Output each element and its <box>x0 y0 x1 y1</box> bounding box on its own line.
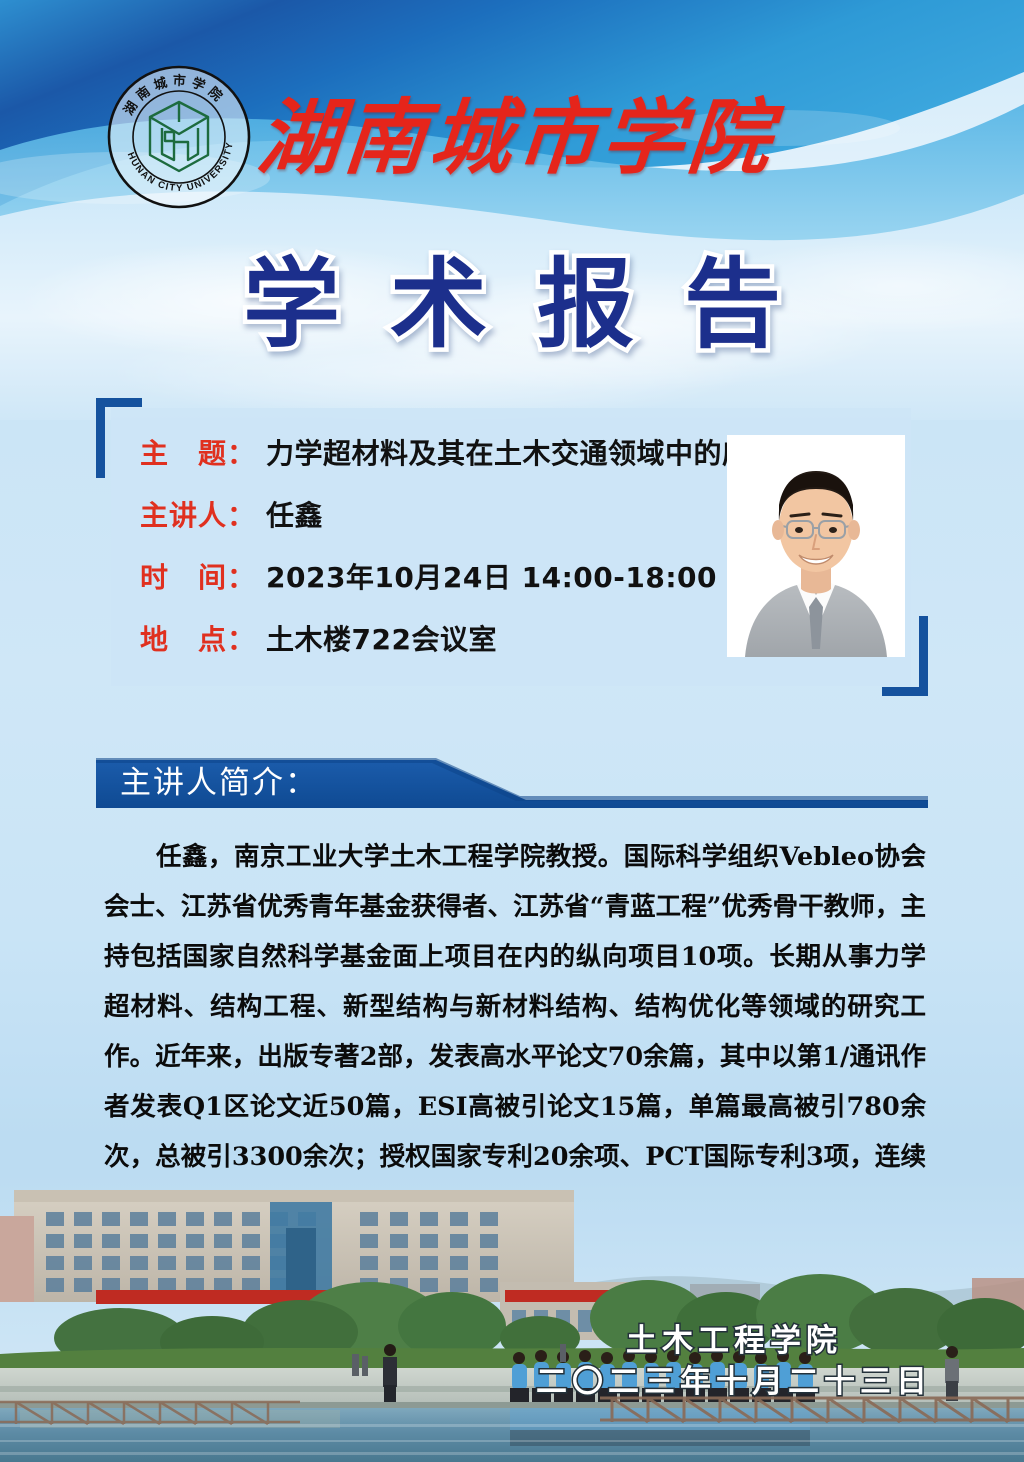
bio-section-heading: 主讲人简介： <box>120 764 318 802</box>
info-row-speaker: 主讲人： 任鑫 <box>140 494 740 534</box>
campus-photo <box>0 1172 1024 1462</box>
page-title: 学术报告 <box>0 252 1024 357</box>
info-row-location: 地 点： 土木楼722会议室 <box>140 618 740 658</box>
corner-bracket-top-left <box>96 398 142 478</box>
info-value-speaker: 任鑫 <box>266 494 323 534</box>
lecture-info-block: 主 题： 力学超材料及其在土木交通领域中的应用 主讲人： 任鑫 时 间： 202… <box>96 398 928 696</box>
poster-footer: 土木工程学院 二〇二三年十月二十三日 <box>536 1321 932 1402</box>
academic-lecture-poster: 湖南城市学院 HUNAN CITY UNIVERSITY 湖南城市学院 学术报告… <box>0 0 1024 1462</box>
speaker-portrait <box>727 435 905 657</box>
bio-section-banner: 主讲人简介： <box>96 758 928 808</box>
footer-organization: 土木工程学院 <box>536 1321 932 1361</box>
info-label-location: 地 点： <box>140 618 266 658</box>
info-value-time: 2023年10月24日 14:00-18:00 <box>266 556 717 596</box>
info-value-location: 土木楼722会议室 <box>266 618 497 658</box>
university-logo: 湖南城市学院 HUNAN CITY UNIVERSITY <box>104 62 254 212</box>
info-row-topic: 主 题： 力学超材料及其在土木交通领域中的应用 <box>140 432 740 472</box>
footer-date: 二〇二三年十月二十三日 <box>536 1362 932 1402</box>
info-value-topic: 力学超材料及其在土木交通领域中的应用 <box>266 432 779 472</box>
info-row-time: 时 间： 2023年10月24日 14:00-18:00 <box>140 556 740 596</box>
info-label-time: 时 间： <box>140 556 266 596</box>
info-label-topic: 主 题： <box>140 432 266 472</box>
university-name-heading: 湖南城市学院 <box>253 78 703 198</box>
info-label-speaker: 主讲人： <box>140 494 266 534</box>
lecture-info-rows: 主 题： 力学超材料及其在土木交通领域中的应用 主讲人： 任鑫 时 间： 202… <box>140 432 740 658</box>
